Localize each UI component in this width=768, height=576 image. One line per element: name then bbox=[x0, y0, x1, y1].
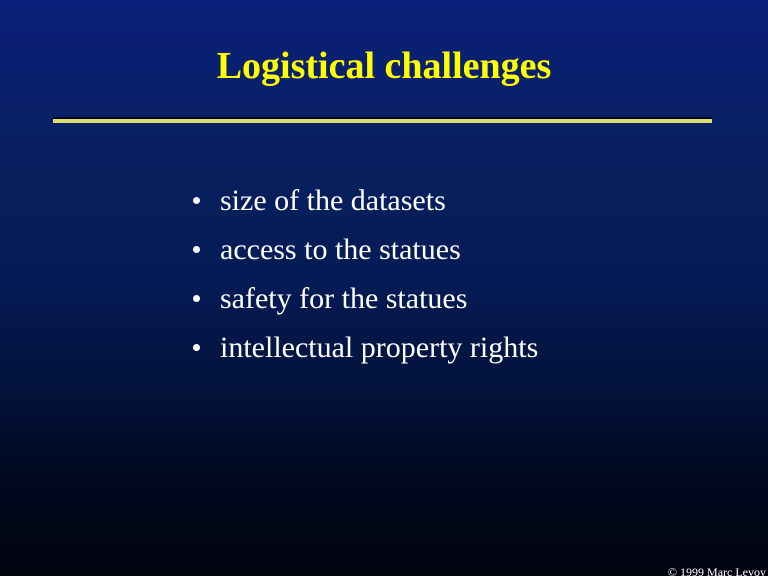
bullet-dot-icon bbox=[193, 344, 200, 351]
presentation-slide: Logistical challenges size of the datase… bbox=[0, 0, 768, 576]
title-divider-rule bbox=[53, 117, 712, 123]
list-item-label: safety for the statues bbox=[220, 282, 467, 315]
copyright-notice: © 1999 Marc Levoy bbox=[668, 565, 766, 576]
list-item: access to the statues bbox=[188, 225, 708, 274]
bullet-dot-icon bbox=[193, 295, 200, 302]
list-item-label: access to the statues bbox=[220, 233, 461, 266]
bullet-list: size of the datasets access to the statu… bbox=[188, 176, 708, 372]
list-item: intellectual property rights bbox=[188, 323, 708, 372]
list-item-label: size of the datasets bbox=[220, 184, 446, 217]
list-item: size of the datasets bbox=[188, 176, 708, 225]
bullet-dot-icon bbox=[193, 197, 200, 204]
bullet-dot-icon bbox=[193, 246, 200, 253]
slide-title: Logistical challenges bbox=[0, 44, 768, 88]
list-item: safety for the statues bbox=[188, 274, 708, 323]
list-item-label: intellectual property rights bbox=[220, 331, 538, 364]
